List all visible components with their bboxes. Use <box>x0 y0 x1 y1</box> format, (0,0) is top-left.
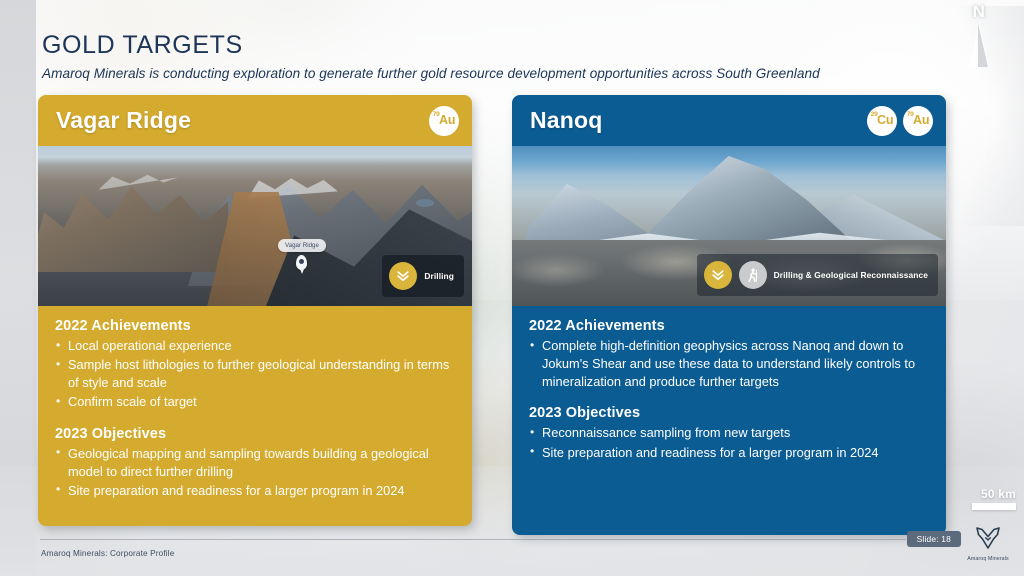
element-number-au-nanoq: 79 <box>907 111 914 118</box>
north-arrow-icon: N <box>956 2 1002 68</box>
section-title-objectives-nanoq: 2023 Objectives <box>529 405 928 421</box>
bullet-list-achievements-vagar: Local operational experience Sample host… <box>55 337 454 412</box>
page-subtitle: Amaroq Minerals is conducting exploratio… <box>42 66 820 81</box>
element-symbol-au-text: Au <box>439 113 455 127</box>
element-badge-au-nanoq: 79Au <box>903 106 933 136</box>
page-title: GOLD TARGETS <box>42 31 243 60</box>
north-label: N <box>956 2 1002 22</box>
map-scale-label: 50 km <box>952 487 1016 501</box>
card-body-nanoq: 2022 Achievements Complete high-definiti… <box>512 306 946 477</box>
photo-nanoq: Drilling & Geological Reconnaissance <box>512 146 946 306</box>
element-badge-cu: 29Cu <box>867 106 897 136</box>
footer-text: Amaroq Minerals: Corporate Profile <box>41 549 174 558</box>
activity-panel-nanoq: Drilling & Geological Reconnaissance <box>697 254 938 296</box>
card-header-nanoq: Nanoq 29Cu 79Au <box>512 95 946 146</box>
fox-head-icon <box>975 526 1001 550</box>
photo-ridge-near <box>38 162 228 272</box>
bullet-list-achievements-nanoq: Complete high-definition geophysics acro… <box>529 337 928 391</box>
photo-vagar-ridge: Vagar Ridge Drilling <box>38 146 472 306</box>
section-title-achievements-vagar: 2022 Achievements <box>55 318 454 334</box>
card-vagar-ridge: Vagar Ridge 79Au Vagar Ridge <box>38 95 472 526</box>
north-needle-dark <box>978 23 988 67</box>
element-badge-au: 79Au <box>429 106 459 136</box>
footer-divider <box>40 539 906 540</box>
list-item: Confirm scale of target <box>55 393 454 411</box>
bullet-list-objectives-nanoq: Reconnaissance sampling from new targets… <box>529 424 928 461</box>
map-scale-line <box>972 503 1016 510</box>
element-badges-nanoq: 29Cu 79Au <box>867 106 933 136</box>
list-item: Complete high-definition geophysics acro… <box>529 337 928 391</box>
photo-snow-patch-left <box>98 172 178 190</box>
element-number-au: 79 <box>433 111 440 118</box>
logo-name: Amaroq Minerals <box>966 556 1010 562</box>
activity-label-nanoq: Drilling & Geological Reconnaissance <box>774 270 928 281</box>
slide-number-badge: Slide: 18 <box>907 531 961 547</box>
drill-chevron-icon <box>389 262 417 290</box>
card-title-nanoq: Nanoq <box>530 107 603 134</box>
element-symbol-au-nanoq-text: Au <box>913 113 929 127</box>
element-symbol-au: 79Au <box>433 114 456 127</box>
element-number-cu: 29 <box>871 111 878 118</box>
list-item: Site preparation and readiness for a lar… <box>55 482 454 500</box>
element-symbol-au-nanoq: 79Au <box>907 114 930 127</box>
map-pin-vagar[interactable]: Vagar Ridge <box>278 234 326 270</box>
list-item: Geological mapping and sampling towards … <box>55 445 454 481</box>
bullet-list-objectives-vagar: Geological mapping and sampling towards … <box>55 445 454 500</box>
element-badges-vagar: 79Au <box>429 106 459 136</box>
list-item: Site preparation and readiness for a lar… <box>529 444 928 462</box>
card-header-vagar: Vagar Ridge 79Au <box>38 95 472 146</box>
activity-label-vagar: Drilling <box>424 271 454 282</box>
activity-panel-vagar: Drilling <box>382 255 464 297</box>
hiker-icon <box>739 261 767 289</box>
element-symbol-cu-text: Cu <box>877 113 893 127</box>
slide-canvas: N 50 km GOLD TARGETS Amaroq Minerals is … <box>0 0 1024 576</box>
list-item: Reconnaissance sampling from new targets <box>529 424 928 442</box>
drill-chevron-icon <box>704 261 732 289</box>
card-body-vagar: 2022 Achievements Local operational expe… <box>38 306 472 515</box>
list-item: Sample host lithologies to further geolo… <box>55 356 454 392</box>
map-pin-icon <box>296 255 307 270</box>
element-symbol-cu: 29Cu <box>871 114 894 127</box>
section-title-achievements-nanoq: 2022 Achievements <box>529 318 928 334</box>
list-item: Local operational experience <box>55 337 454 355</box>
section-title-objectives-vagar: 2023 Objectives <box>55 426 454 442</box>
photo-lake-small <box>416 199 434 207</box>
map-scale-bar: 50 km <box>952 487 1016 510</box>
amaroq-logo: Amaroq Minerals <box>966 526 1010 562</box>
card-title-vagar: Vagar Ridge <box>56 107 191 134</box>
card-nanoq: Nanoq 29Cu 79Au <box>512 95 946 535</box>
map-pin-label: Vagar Ridge <box>278 239 326 252</box>
